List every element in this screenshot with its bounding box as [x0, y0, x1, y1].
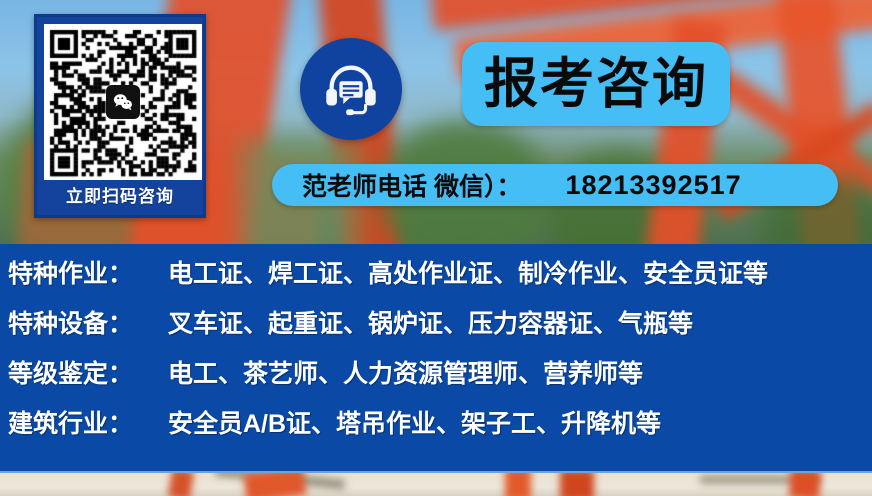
bottom-photo-strip: [0, 473, 872, 496]
strip-blur-shape: [243, 473, 306, 496]
category-row: 特种作业： 电工证、焊工证、高处作业证、制冷作业、安全员证等: [0, 254, 872, 304]
certificate-category-panel: 特种作业： 电工证、焊工证、高处作业证、制冷作业、安全员证等 特种设备： 叉车证…: [0, 244, 872, 471]
contact-phone-number[interactable]: 18213392517: [565, 170, 741, 201]
category-items: 电工证、焊工证、高处作业证、制冷作业、安全员证等: [168, 254, 768, 290]
category-label: 建筑行业：: [8, 404, 158, 440]
category-row: 特种设备： 叉车证、起重证、锅炉证、压力容器证、气瓶等: [0, 304, 872, 354]
title-banner: 报考咨询: [462, 42, 730, 126]
page-title: 报考咨询: [484, 57, 708, 111]
wechat-icon: [106, 85, 140, 119]
category-label: 特种设备：: [8, 304, 158, 340]
category-row: 建筑行业： 安全员A/B证、塔吊作业、架子工、升降机等: [0, 404, 872, 454]
headset-support-icon[interactable]: [300, 38, 402, 140]
category-items: 叉车证、起重证、锅炉证、压力容器证、气瓶等: [168, 304, 693, 340]
strip-blur-shape: [789, 473, 821, 496]
category-items: 电工、茶艺师、人力资源管理师、营养师等: [168, 354, 643, 390]
promo-poster: 立即扫码咨询 报考咨询 范老师电话 微信）： 18213392517 特种作业：…: [0, 0, 872, 496]
contact-banner[interactable]: 范老师电话 微信）： 18213392517: [272, 164, 838, 206]
contact-label: 范老师电话 微信）：: [302, 167, 521, 203]
qr-code-image[interactable]: [44, 24, 202, 180]
category-label: 等级鉴定：: [8, 354, 158, 390]
category-items: 安全员A/B证、塔吊作业、架子工、升降机等: [168, 404, 661, 440]
strip-blur-shape: [560, 473, 594, 496]
strip-blur-shape: [505, 473, 531, 496]
qr-code-card[interactable]: 立即扫码咨询: [34, 14, 206, 218]
category-label: 特种作业：: [8, 254, 158, 290]
qr-card-caption: 立即扫码咨询: [44, 180, 196, 214]
strip-blur-shape: [168, 473, 195, 496]
category-row: 等级鉴定： 电工、茶艺师、人力资源管理师、营养师等: [0, 354, 872, 404]
